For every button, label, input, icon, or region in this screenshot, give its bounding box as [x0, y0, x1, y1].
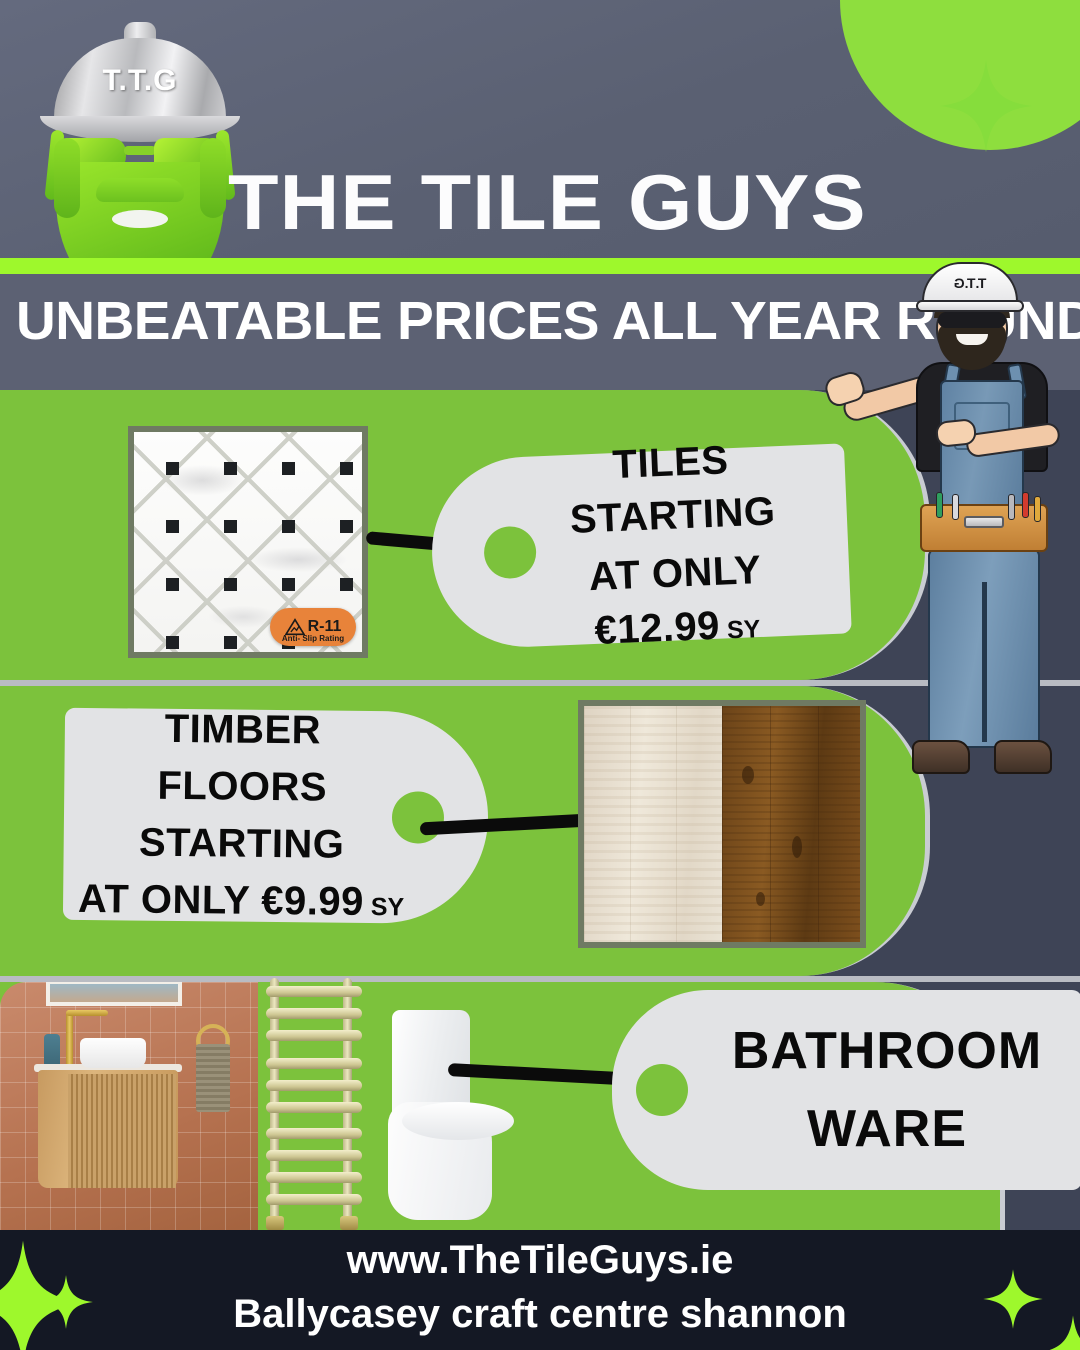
light-oak-plank	[584, 706, 722, 942]
anti-slip-badge: R-11 Anti- Slip Rating	[270, 608, 356, 646]
poster-canvas: T.T.G THE TILE GUYS UNBEATABLE PRICES AL…	[0, 0, 1080, 1350]
tile-sample-image: R-11 Anti- Slip Rating	[128, 426, 368, 658]
dark-oak-plank	[722, 706, 860, 942]
toilet-image	[384, 1010, 516, 1222]
bathroom-offer-line1: BATHROOM	[732, 1012, 1042, 1090]
tagline-text: UNBEATABLE PRICES ALL YEAR ROUND	[16, 294, 965, 348]
tool-belt	[920, 504, 1048, 552]
tiles-offer-line1: TILES STARTING	[506, 430, 838, 551]
timber-offer-line3: AT ONLY €9.99	[78, 877, 364, 924]
tag-hole	[392, 791, 445, 844]
bathroom-offer-line2: WARE	[807, 1090, 967, 1168]
tiles-unit: SY	[726, 615, 761, 644]
brand-logo: T.T.G	[34, 18, 246, 258]
price-tag-tiles: TILES STARTING AT ONLY €12.99SY	[428, 443, 852, 650]
beard-icon	[56, 162, 224, 258]
anti-slip-caption: Anti- Slip Rating	[270, 634, 356, 643]
page-title: THE TILE GUYS	[228, 163, 1080, 241]
bathroom-vanity-image	[0, 982, 258, 1230]
timber-offer-line2: STARTING	[139, 815, 345, 874]
timber-sample-image	[578, 700, 866, 948]
sparkle-icon	[938, 58, 1034, 154]
towel-radiator-image	[262, 978, 374, 1230]
basin-icon	[80, 1038, 146, 1068]
store-address: Ballycasey craft centre shannon	[0, 1292, 1080, 1337]
logo-helmet-text: T.T.G	[40, 64, 240, 98]
hard-hat-icon: T.T.G	[40, 22, 240, 142]
footer-band: www.TheTileGuys.ie Ballycasey craft cent…	[0, 1230, 1080, 1350]
website-url[interactable]: www.TheTileGuys.ie	[0, 1238, 1080, 1283]
tradesman-mascot: T.T.G	[886, 262, 1080, 802]
header-band: T.T.G THE TILE GUYS	[0, 0, 1080, 258]
timber-offer-line1: TIMBER FLOORS	[74, 700, 411, 817]
worker-helmet-text: T.T.G	[922, 275, 1018, 291]
timber-unit: SY	[371, 893, 405, 921]
vanity-unit	[38, 1070, 178, 1188]
tag-hole	[636, 1064, 688, 1116]
price-tag-timber: TIMBER FLOORS STARTING AT ONLY €9.99SY	[63, 708, 489, 924]
anti-slip-rating-value: R-11	[308, 619, 342, 635]
sunglasses-icon	[938, 312, 1006, 328]
price-tag-bathroom: BATHROOM WARE	[612, 990, 1080, 1190]
